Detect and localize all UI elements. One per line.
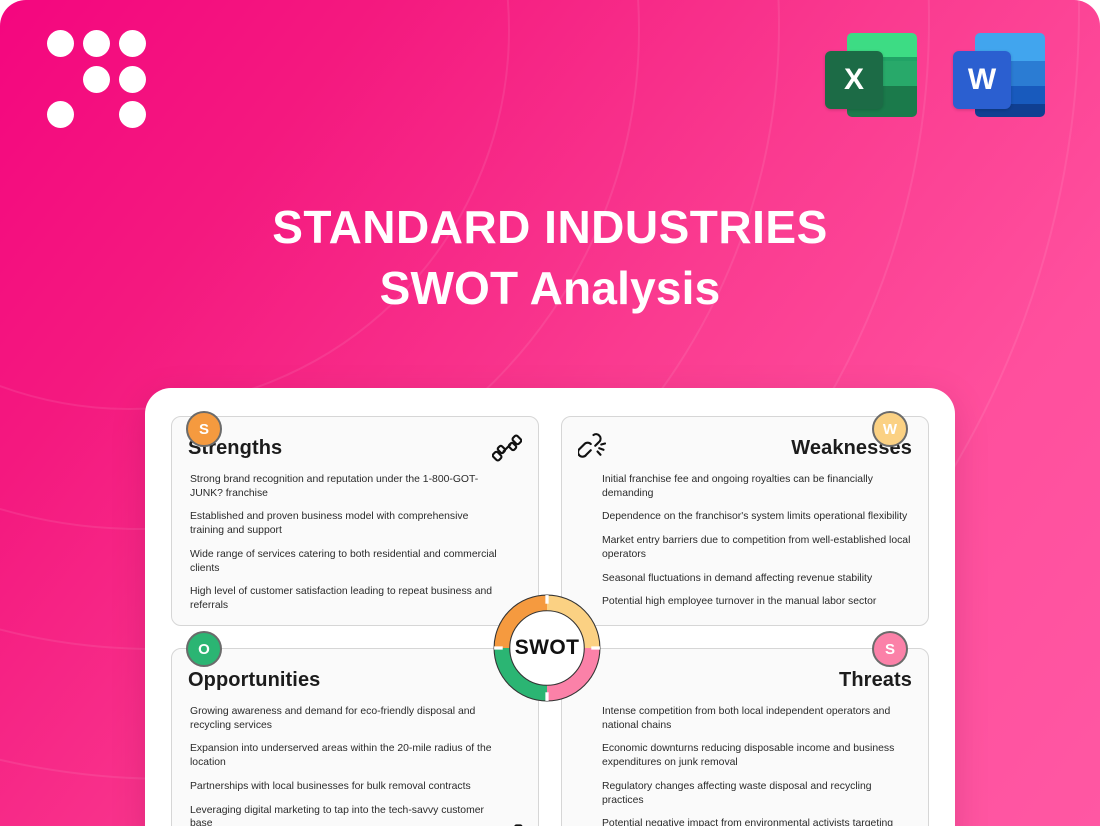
logo-dot (119, 66, 146, 93)
list-item: Market entry barriers due to competition… (602, 534, 912, 561)
badge-strengths: S (186, 411, 222, 447)
list-item: Seasonal fluctuations in demand affectin… (602, 572, 912, 586)
badge-threats: S (872, 631, 908, 667)
list-item: Potential negative impact from environme… (602, 817, 912, 826)
logo-dot (47, 30, 74, 57)
badge-weaknesses: W (872, 411, 908, 447)
dumbbell-icon (492, 433, 522, 463)
excel-icon[interactable]: X (825, 29, 917, 121)
quadrant-header: Threats (578, 665, 912, 695)
quadrant-weaknesses[interactable]: Weaknesses Initial franchise fee and ong… (561, 416, 929, 626)
opportunities-list: Growing awareness and demand for eco-fri… (188, 705, 522, 826)
word-letter: W (953, 51, 1011, 109)
quadrant-opportunities[interactable]: Opportunities Growing awareness and dema… (171, 648, 539, 826)
threats-list: Intense competition from both local inde… (578, 705, 912, 826)
quadrant-header: Weaknesses (578, 433, 912, 463)
badge-opportunities: O (186, 631, 222, 667)
broken-link-icon (578, 433, 608, 463)
logo-dot (83, 30, 110, 57)
strengths-list: Strong brand recognition and reputation … (188, 473, 522, 613)
donut-center-label: SWOT (493, 594, 601, 702)
page-title: STANDARD INDUSTRIES (0, 200, 1100, 254)
list-item: Growing awareness and demand for eco-fri… (190, 705, 502, 732)
list-item: Economic downturns reducing disposable i… (602, 742, 912, 769)
quadrant-header: Strengths (188, 433, 522, 463)
logo-dot (119, 101, 146, 128)
list-item: Regulatory changes affecting waste dispo… (602, 780, 912, 807)
list-item: Leveraging digital marketing to tap into… (190, 804, 502, 826)
page-subtitle: SWOT Analysis (0, 260, 1100, 316)
excel-letter: X (825, 51, 883, 109)
list-item: Partnerships with local businesses for b… (190, 780, 502, 794)
list-item: Wide range of services catering to both … (190, 548, 502, 575)
poster-title-block: STANDARD INDUSTRIES SWOT Analysis (0, 200, 1100, 316)
list-item: Strong brand recognition and reputation … (190, 473, 502, 500)
quadrant-title: Opportunities (188, 669, 320, 692)
list-item: Intense competition from both local inde… (602, 705, 912, 732)
list-item: High level of customer satisfaction lead… (190, 585, 502, 612)
logo-dot (119, 30, 146, 57)
weaknesses-list: Initial franchise fee and ongoing royalt… (578, 473, 912, 609)
list-item: Dependence on the franchisor's system li… (602, 510, 912, 524)
word-icon[interactable]: W (953, 29, 1045, 121)
quadrant-strengths[interactable]: Strengths Strong brand recognition and r… (171, 416, 539, 626)
logo-dot (83, 66, 110, 93)
brand-logo (47, 30, 147, 128)
list-item: Potential high employee turnover in the … (602, 595, 912, 609)
office-app-icons: X W (825, 29, 1045, 121)
logo-dot (47, 101, 74, 128)
quadrant-header: Opportunities (188, 665, 522, 695)
list-item: Initial franchise fee and ongoing royalt… (602, 473, 912, 500)
quadrant-threats[interactable]: Threats Intense competition from both lo… (561, 648, 929, 826)
list-item: Established and proven business model wi… (190, 510, 502, 537)
list-item: Expansion into underserved areas within … (190, 742, 502, 769)
swot-donut-chart: SWOT (493, 594, 601, 702)
swot-poster-page: X W STANDARD INDUSTRIES SWOT Analysis St… (0, 0, 1100, 826)
quadrant-title: Threats (839, 669, 912, 692)
